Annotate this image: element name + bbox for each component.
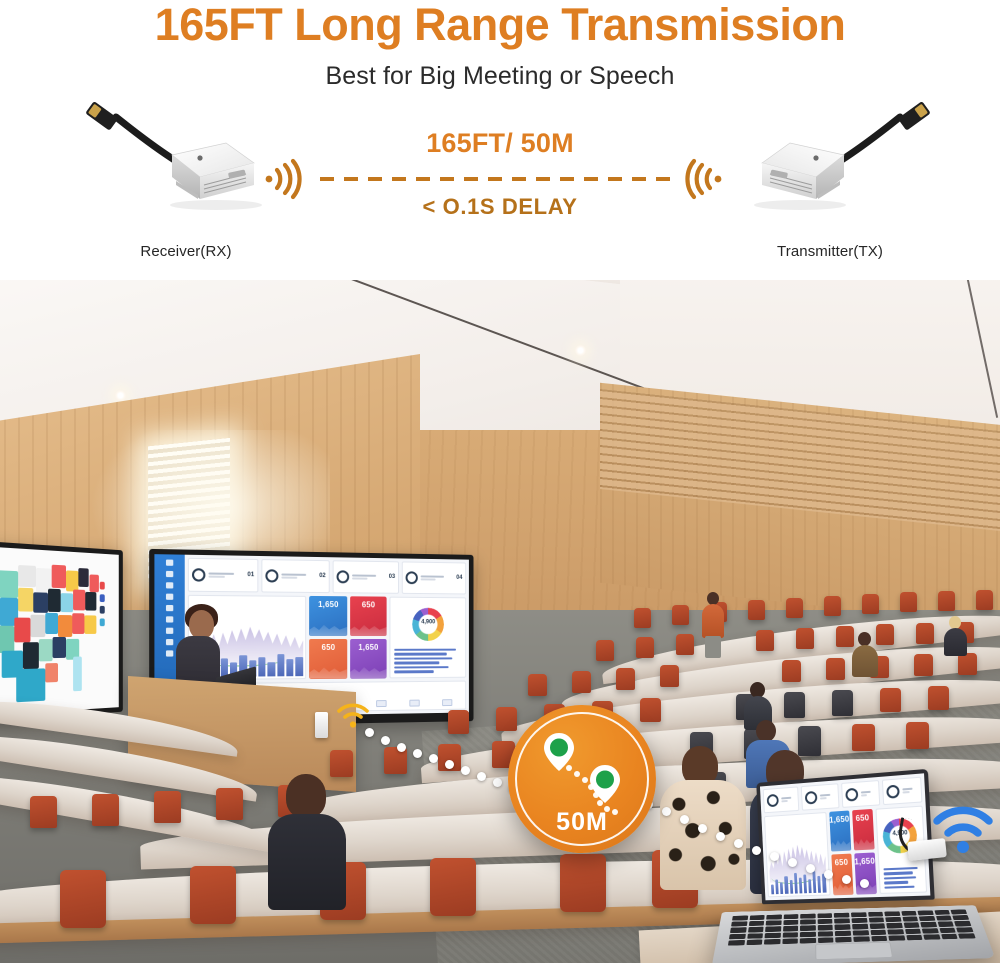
auditorium-chair [92,794,119,826]
kpi-tile-value: 650 [835,858,849,868]
receiver-caption: Receiver(RX) [76,243,296,260]
stat-card[interactable] [841,780,880,808]
header-diagram-panel: 165FT Long Range Transmission Best for B… [0,0,1000,280]
laptop-base [712,905,996,963]
auditorium-chair [672,605,689,625]
kpi-tile[interactable]: 650 [310,639,347,679]
auditorium-chair [596,640,614,661]
auditorium-chair [786,598,803,618]
dashboard-stat-row: 01 02 [188,558,467,595]
attendee-head [858,632,871,646]
horizontal-bar-chart [394,648,461,673]
auditorium-chair [496,707,517,731]
attendee-body [702,604,724,638]
distance-dashed-line [320,177,680,181]
auditorium-chair [916,623,934,644]
stat-badge: 04 [456,575,462,582]
transmitter-dongle-image [720,95,940,225]
stat-badge: 03 [389,574,395,581]
auditorium-chair [190,866,236,924]
kpi-tile-value: 1,650 [829,814,849,824]
search-icon[interactable] [166,616,173,622]
badge-path-dot [588,784,594,790]
page-subtitle: Best for Big Meeting or Speech [0,60,1000,92]
receiver-dongle-scene [315,712,328,738]
kpi-tile[interactable]: 1,650 [310,596,347,636]
users-icon[interactable] [166,582,173,588]
stat-card[interactable]: 02 [261,559,329,593]
kpi-tile[interactable]: 1,650 [350,639,387,678]
folder-icon[interactable] [166,594,173,600]
donut-panel: 4,900 [390,597,466,678]
auditorium-chair [928,686,949,710]
laptop-kpi-tiles: 1,650 650 650 1,650 [829,809,877,896]
auditorium-chair [938,591,955,611]
auditorium-chair [660,665,679,687]
stat-card[interactable]: 01 [188,558,259,593]
transmitter-device-block: Transmitter(TX) [720,95,940,260]
auditorium-chair [560,854,606,912]
progress-ring-icon [886,784,900,798]
secondary-display-usmap [0,541,123,721]
auditorium-chair [438,744,461,771]
donut-value: 4,900 [421,620,435,626]
auditorium-chair [784,692,805,718]
badge-path-dot [593,792,599,798]
progress-ring-icon [336,571,349,584]
auditorium-chair [30,796,57,828]
auditorium-chair [880,688,901,712]
auditorium-chair [906,722,929,749]
auditorium-chair [448,710,469,734]
kpi-tiles-panel: 1,650 650 650 1,650 [310,596,387,678]
stat-text [421,575,454,581]
auditorium-chair [798,726,821,756]
attendee-head [756,720,776,742]
badge-distance-label: 50M [508,808,656,837]
auditorium-chair [636,637,654,658]
auditorium-chair [976,590,993,610]
stat-text [208,572,244,578]
auditorium-chair [796,628,814,649]
progress-ring-icon [845,788,858,802]
progress-ring-icon [265,569,278,582]
auditorium-chair [876,624,894,645]
kpi-tile[interactable]: 650 [350,597,387,636]
presenter-head [189,610,214,639]
auditorium-chair [640,698,661,722]
auditorium-chair [782,660,801,682]
auditorium-chair [826,658,845,680]
stat-text [352,574,386,580]
badge-path-dot [582,777,588,783]
product-marketing-page: 165FT Long Range Transmission Best for B… [0,0,1000,963]
dashboard-main-row: 1,650 650 650 1,650 [188,595,467,679]
stat-card[interactable]: 04 [402,561,466,594]
transmission-diagram: 165FT/ 50M [260,128,740,233]
delay-label: < O.1S DELAY [260,194,740,220]
kpi-tile[interactable]: 650 [831,854,853,895]
attendee-legs [705,636,721,658]
calendar-icon[interactable] [166,628,173,634]
transmitter-caption: Transmitter(TX) [720,243,940,260]
united-states-map-infographic [0,547,119,715]
kpi-tiles-grid: 1,650 650 650 1,650 [310,596,387,678]
stat-card[interactable] [763,786,800,813]
auditorium-chair [154,791,181,823]
progress-ring-icon [767,794,779,807]
auditorium-chair [60,870,106,928]
laptop-trackpad[interactable] [815,942,893,960]
kpi-tile[interactable]: 1,650 [829,810,851,852]
auditorium-chair [330,750,353,777]
auditorium-chair [862,594,879,614]
badge-path-dot [574,771,580,777]
bar-chart [770,868,826,894]
stat-badge: 02 [319,573,326,580]
wifi-icon-yellow [336,702,370,734]
auditorium-chair [914,654,933,676]
horizontal-bar-chart [883,866,922,888]
auditorium-chair [958,653,977,675]
auditorium-chair [756,630,774,651]
badge-path-dot [597,800,603,806]
auditorium-chair [572,671,591,693]
distance-badge: 50M [508,705,656,853]
badge-path-dot [566,765,572,771]
auditorium-chair [616,668,635,690]
auditorium-chair [528,674,547,696]
kpi-tile-value: 650 [322,643,336,652]
kpi-tile-value: 650 [855,813,869,823]
ceiling-downlight [115,390,126,401]
settings-icon[interactable] [166,605,173,611]
auditorium-chair [430,858,476,916]
laptop-keyboard[interactable] [728,909,976,945]
wifi-icon-blue [932,805,994,860]
attendee-body [268,814,346,910]
ceiling-downlight [575,345,586,356]
auditorium-chair [852,724,875,751]
mail-icon[interactable] [166,639,173,645]
progress-ring-icon [406,572,418,585]
progress-ring-icon [805,791,818,805]
auditorium-chair [634,608,651,628]
cloud-icon[interactable] [166,650,173,656]
kpi-tile-value: 650 [362,601,375,610]
kpi-tile[interactable]: 650 [852,809,875,851]
attendee-body [944,628,967,656]
stat-card[interactable] [801,783,839,810]
attendee-head [286,774,326,818]
attendee-body [852,645,878,677]
auditorium-chair [748,600,765,620]
chart-icon[interactable] [166,571,173,577]
distance-label: 165FT/ 50M [260,128,740,159]
transmitter-dongle-svg [720,95,940,225]
auditorium-chair [676,634,694,655]
stat-card[interactable] [882,777,923,805]
laptop-statistic-graph [764,812,830,898]
kpi-tile-value: 1,650 [358,643,378,652]
kpi-tile[interactable]: 1,650 [854,853,877,895]
lecture-hall-photo: 01 02 [0,280,1000,963]
auditorium-chair [216,788,243,820]
home-icon[interactable] [166,560,173,566]
auditorium-chair [836,626,854,647]
auditorium-chair [824,596,841,616]
stat-text [281,573,316,579]
attendee-body [660,780,746,890]
usmap-screen [0,547,119,715]
stat-badge: 01 [247,572,254,579]
auditorium-chair [900,592,917,612]
progress-ring-icon [192,568,205,582]
auditorium-chair [832,690,853,716]
page-title: 165FT Long Range Transmission [0,0,1000,52]
stat-card[interactable]: 03 [333,560,399,594]
kpi-tile-value: 1,650 [318,600,339,609]
auditorium-chair [384,747,407,774]
kpi-tile-value: 1,650 [854,857,875,867]
